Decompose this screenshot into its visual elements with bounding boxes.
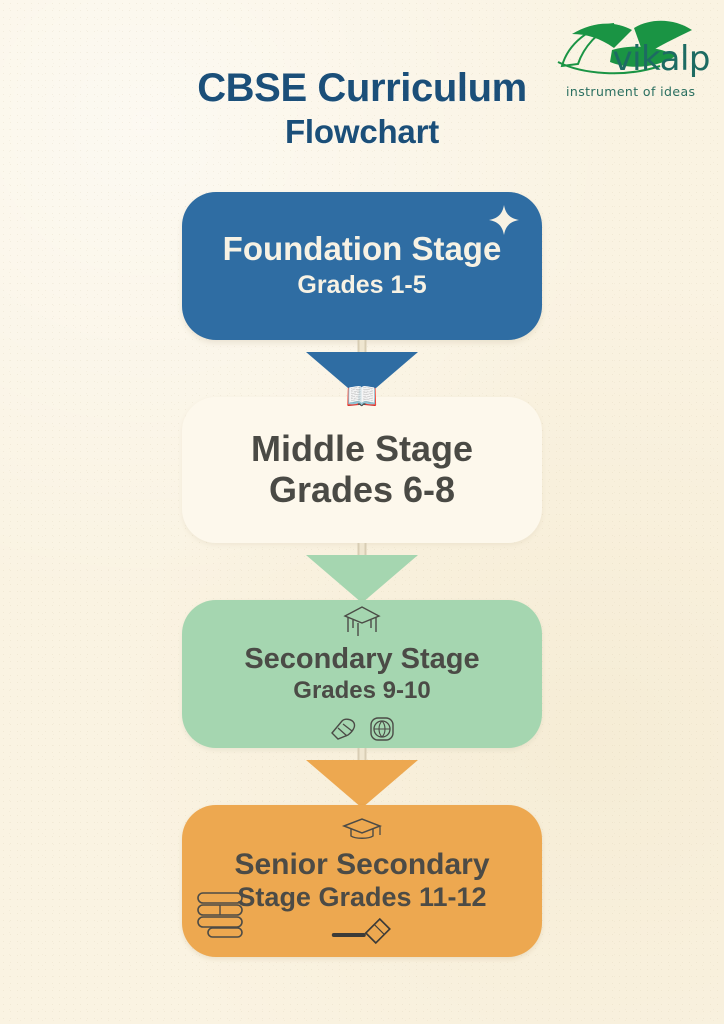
graduation-cap-icon xyxy=(341,815,383,843)
flow-connector-secondary-to-senior xyxy=(182,748,542,805)
flow-connector-middle-to-secondary xyxy=(182,543,542,600)
globe-icon xyxy=(369,716,395,742)
pencil-icon xyxy=(330,917,400,951)
page-title-line-2: Flowchart xyxy=(0,111,724,154)
flow-node-title: Senior Secondary xyxy=(234,848,489,882)
flow-node-middle-stage[interactable]: 📖 Middle Stage Grades 6-8 xyxy=(182,397,542,543)
flow-node-subtitle: Grades 1-5 xyxy=(297,271,426,301)
flowchart: Foundation Stage Grades 1-5 📖 Middle Sta… xyxy=(182,192,542,957)
secondary-stage-icon-group xyxy=(329,716,395,742)
open-book-icon: 📖 xyxy=(346,383,378,409)
eraser-icon xyxy=(329,717,359,741)
page-title: CBSE Curriculum Flowchart xyxy=(0,66,724,154)
poster-canvas: vikalp instrument of ideas CBSE Curricul… xyxy=(0,0,724,1024)
sparkle-icon xyxy=(488,204,520,236)
flow-node-title: Middle Stage xyxy=(251,429,473,469)
flow-node-title: Secondary Stage xyxy=(244,643,479,675)
flow-node-title: Foundation Stage xyxy=(223,231,502,268)
flow-node-senior-secondary-stage[interactable]: Senior Secondary Stage Grades 11-12 xyxy=(182,805,542,957)
flow-node-secondary-stage[interactable]: Secondary Stage Grades 9-10 xyxy=(182,600,542,748)
flow-node-subtitle: Stage Grades 11-12 xyxy=(237,882,486,914)
down-arrow-icon xyxy=(306,555,418,603)
book-stack-icon xyxy=(194,889,248,939)
flow-node-subtitle: Grades 6-8 xyxy=(269,469,455,511)
flow-node-foundation-stage[interactable]: Foundation Stage Grades 1-5 xyxy=(182,192,542,340)
page-title-line-1: CBSE Curriculum xyxy=(0,66,724,111)
down-arrow-icon xyxy=(306,760,418,808)
flow-node-subtitle: Grades 9-10 xyxy=(293,677,430,705)
desk-icon xyxy=(341,604,383,638)
